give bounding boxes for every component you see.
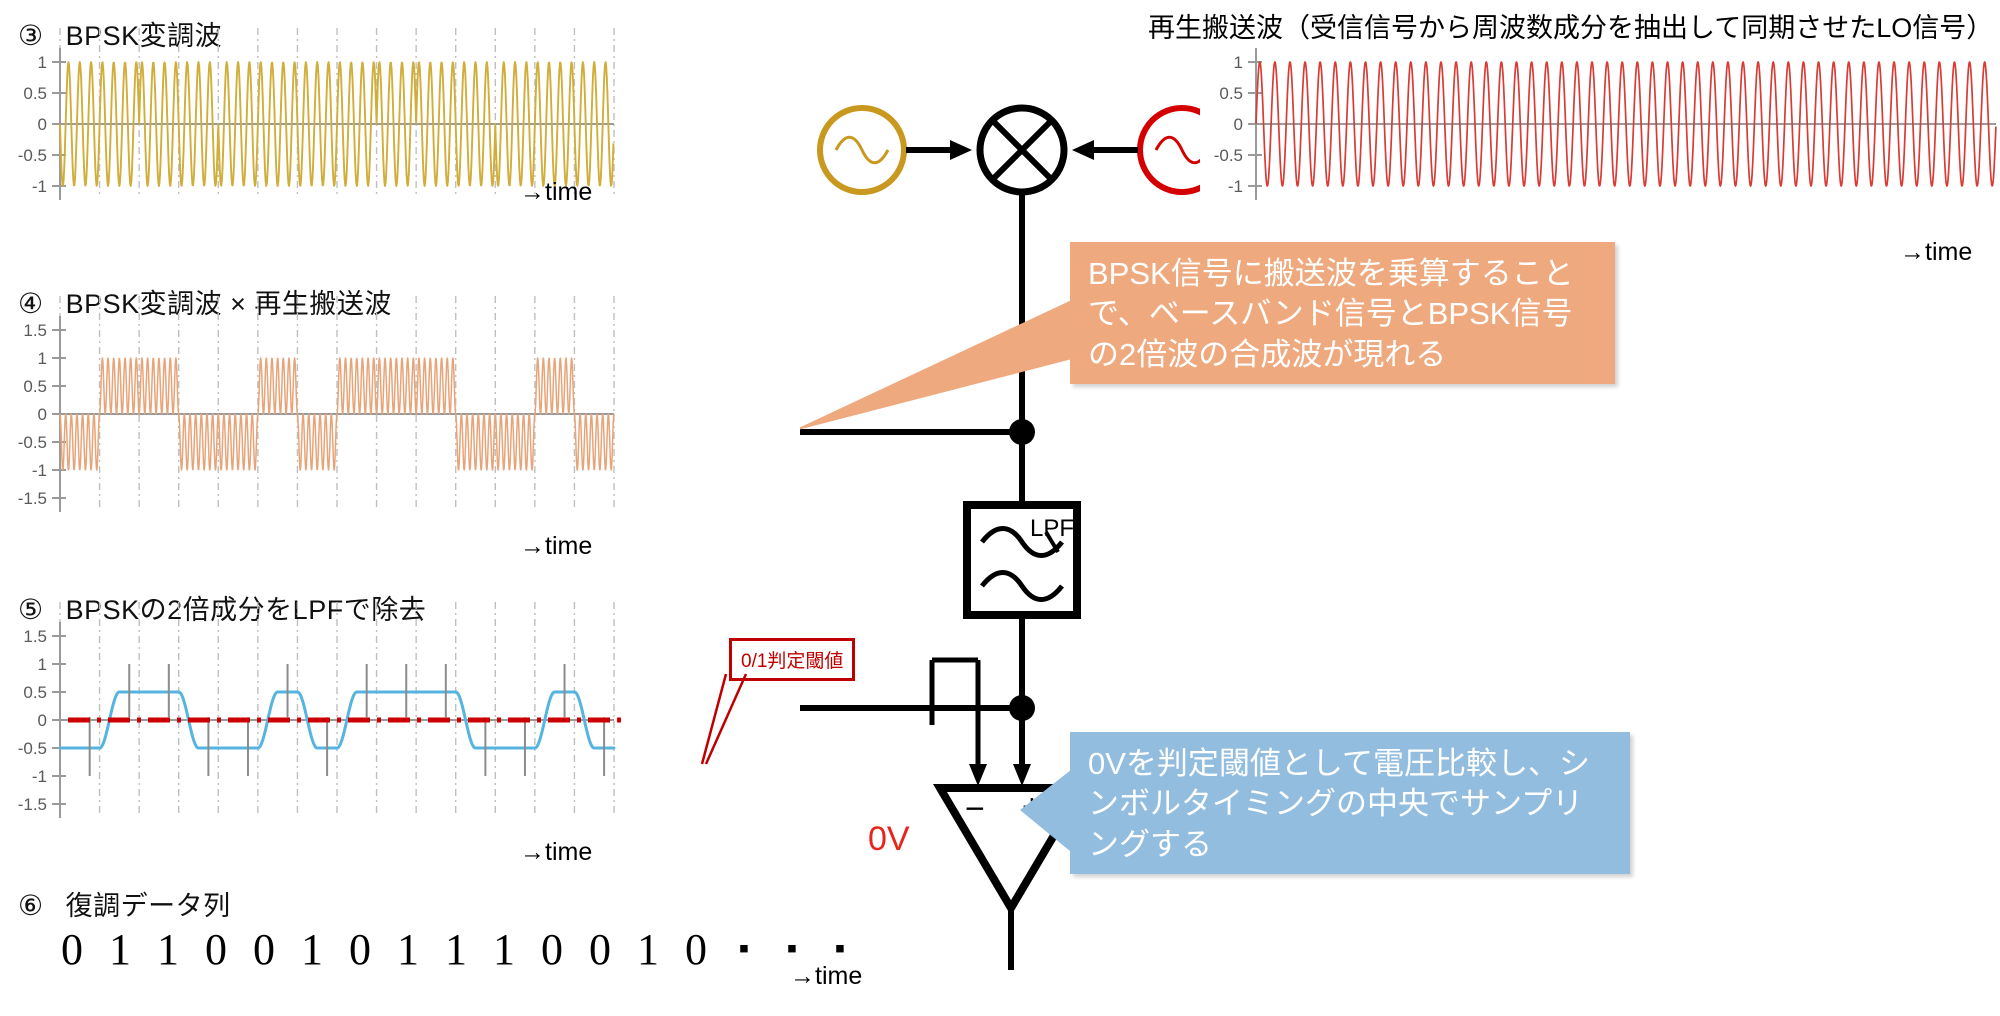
svg-text:-1: -1 (1228, 177, 1243, 196)
svg-text:0.5: 0.5 (23, 377, 47, 396)
chart-bpsk-times-carrier: 1.510.50-0.5-1-1.5 (0, 308, 640, 513)
chart-baseband-after-lpf: 1.510.50-0.5-1-1.5 (0, 614, 640, 819)
svg-text:1.5: 1.5 (23, 627, 47, 646)
callout-mixer: BPSK信号に搬送波を乗算することで、ベースバンド信号とBPSK信号の2倍波の合… (1070, 242, 1615, 384)
demod-bit: 0 (672, 924, 720, 975)
svg-text:-0.5: -0.5 (1214, 146, 1243, 165)
svg-text:0.5: 0.5 (23, 84, 47, 103)
comparator-minus-label: − (965, 790, 985, 829)
svg-text:-1: -1 (32, 767, 47, 786)
section-6-heading: ⑥ 復調データ列 (18, 884, 231, 923)
demod-bit: 1 (624, 924, 672, 975)
section-6-number: ⑥ (18, 890, 44, 921)
zero-volt-label: 0V (868, 820, 910, 859)
demod-bit: 1 (384, 924, 432, 975)
callout-comparator-tail (1020, 760, 1090, 870)
chart-recovered-carrier: 10.50-0.5-1 (1200, 40, 2000, 200)
svg-text:0: 0 (38, 711, 47, 730)
demod-bit: 0 (192, 924, 240, 975)
callout-mixer-tail (800, 290, 1080, 440)
lpf-label: LPF (1030, 515, 1074, 543)
svg-text:0.5: 0.5 (23, 683, 47, 702)
svg-text:-1: -1 (32, 177, 47, 196)
demod-bit: 0 (576, 924, 624, 975)
svg-text:-0.5: -0.5 (18, 739, 47, 758)
chart-3-time-label: →time (520, 178, 592, 207)
demodulated-bit-sequence: 01100101110010▪▪▪ (48, 924, 864, 975)
svg-text:-1: -1 (32, 461, 47, 480)
svg-text:1.5: 1.5 (23, 321, 47, 340)
demod-bit: 1 (288, 924, 336, 975)
chart-bpsk-modulated: 10.50-0.5-1 (0, 40, 640, 200)
svg-text:1: 1 (38, 655, 47, 674)
demod-bit: 0 (528, 924, 576, 975)
svg-text:-0.5: -0.5 (18, 146, 47, 165)
lo-source-circle (1140, 108, 1200, 192)
demod-bit: 0 (240, 924, 288, 975)
svg-text:-1.5: -1.5 (18, 795, 47, 814)
chart-5-time-label: →time (520, 838, 592, 867)
arrow-lo-to-mixer (1072, 140, 1094, 160)
svg-text:1: 1 (38, 53, 47, 72)
svg-text:-1.5: -1.5 (18, 489, 47, 508)
svg-text:0: 0 (38, 115, 47, 134)
demod-bit: 1 (432, 924, 480, 975)
svg-text:1: 1 (1234, 53, 1243, 72)
carrier-time-label: →time (1900, 238, 1972, 267)
chart-4-time-label: →time (520, 532, 592, 561)
demod-ellipsis-dot: ▪ (720, 932, 768, 966)
demod-bit: 0 (48, 924, 96, 975)
demod-bit: 0 (336, 924, 384, 975)
arrow-comparator-minus-input (969, 764, 987, 786)
svg-text:0.5: 0.5 (1219, 84, 1243, 103)
callout-comparator: 0Vを判定閾値として電圧比較し、シンボルタイミングの中央でサンプリングする (1070, 732, 1630, 874)
svg-text:0: 0 (38, 405, 47, 424)
section-6-label: 復調データ列 (66, 891, 231, 921)
svg-text:0: 0 (1234, 115, 1243, 134)
demod-bit: 1 (144, 924, 192, 975)
svg-text:-0.5: -0.5 (18, 433, 47, 452)
arrow-source-to-mixer (950, 140, 972, 160)
demod-bit: 1 (480, 924, 528, 975)
svg-text:1: 1 (38, 349, 47, 368)
demod-bit: 1 (96, 924, 144, 975)
